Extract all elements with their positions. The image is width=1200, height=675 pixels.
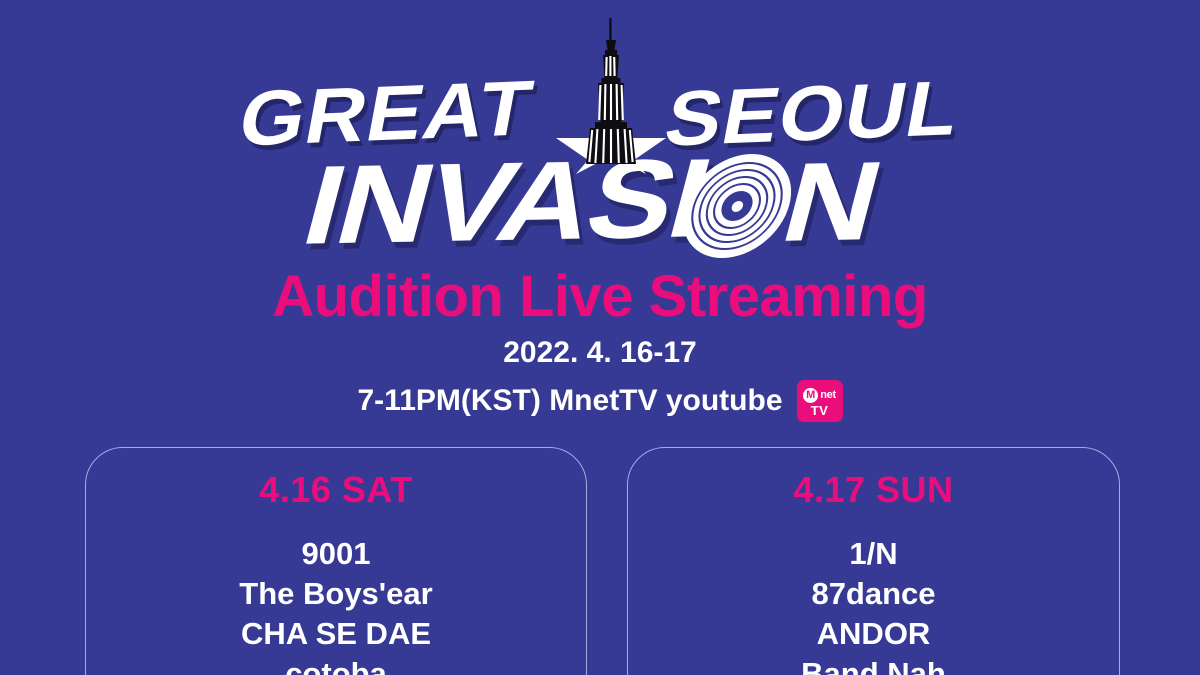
lineup-day-label-1: 4.16 SAT bbox=[86, 472, 586, 508]
list-item: Band Nah bbox=[628, 654, 1119, 675]
list-item: cotoba bbox=[86, 654, 586, 675]
list-item: ANDOR bbox=[628, 614, 1119, 654]
event-time-channel-row: 7-11PM(KST) MnetTV youtube M net TV bbox=[0, 380, 1200, 422]
event-date: 2022. 4. 16-17 bbox=[0, 338, 1200, 368]
mnet-wordmark: M net bbox=[803, 388, 836, 403]
poster-canvas: GREAT SEOUL INVASI N bbox=[0, 0, 1200, 675]
mnet-m-icon: M bbox=[803, 388, 818, 403]
lineup-artist-list-1: 9001 The Boys'ear CHA SE DAE cotoba bbox=[86, 534, 586, 675]
mnet-tv-label: TV bbox=[811, 404, 829, 417]
lineup-artist-list-2: 1/N 87dance ANDOR Band Nah bbox=[628, 534, 1119, 675]
lineup-card-day-1: 4.16 SAT 9001 The Boys'ear CHA SE DAE co… bbox=[85, 447, 587, 675]
logo-line-invasion: INVASI N bbox=[0, 146, 1200, 258]
event-logo: GREAT SEOUL INVASI N bbox=[0, 14, 1200, 264]
list-item: CHA SE DAE bbox=[86, 614, 586, 654]
page-subtitle: Audition Live Streaming bbox=[0, 268, 1200, 326]
event-time-channel: 7-11PM(KST) MnetTV youtube bbox=[357, 386, 782, 416]
list-item: The Boys'ear bbox=[86, 574, 586, 614]
list-item: 87dance bbox=[628, 574, 1119, 614]
logo-word-invasi: INVASI bbox=[293, 142, 720, 261]
lineup-card-day-2: 4.17 SUN 1/N 87dance ANDOR Band Nah bbox=[627, 447, 1120, 675]
lineup-day-label-2: 4.17 SUN bbox=[628, 472, 1119, 508]
mnet-net-label: net bbox=[820, 390, 836, 401]
list-item: 9001 bbox=[86, 534, 586, 574]
mnet-tv-logo[interactable]: M net TV bbox=[797, 380, 843, 422]
list-item: 1/N bbox=[628, 534, 1119, 574]
